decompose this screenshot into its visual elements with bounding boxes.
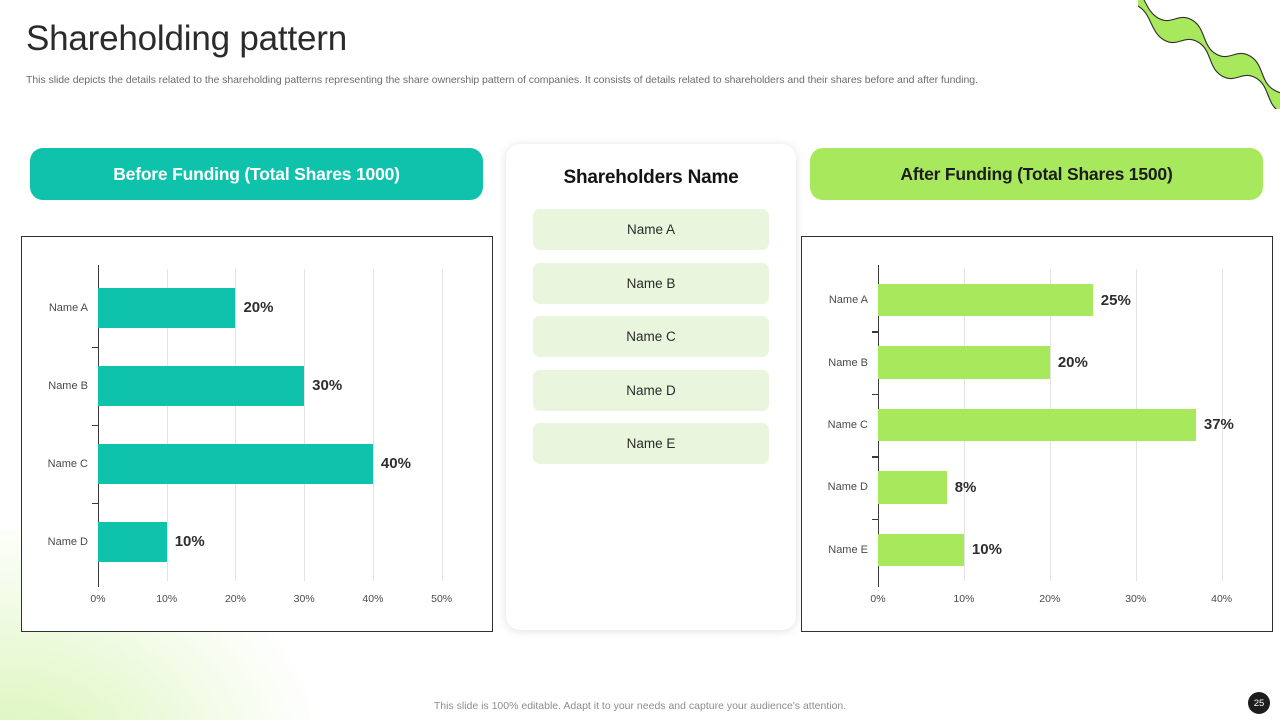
after-funding-chart-frame: 0%10%20%30%40%Name A25%Name B20%Name C37… xyxy=(801,236,1273,632)
wave-ribbon-decoration xyxy=(1138,0,1280,109)
x-axis-tick-label: 20% xyxy=(1039,593,1060,605)
shareholder-name-item[interactable]: Name A xyxy=(533,209,769,250)
y-axis-category-label: Name A xyxy=(829,294,868,306)
y-axis-tick xyxy=(872,394,878,395)
shareholder-name-list: Name AName BName CName DName E xyxy=(506,209,796,464)
before-funding-chart-frame: 0%10%20%30%40%50%Name A20%Name B30%Name … xyxy=(21,236,493,632)
x-axis-tick-label: 30% xyxy=(294,593,315,605)
chart-bar[interactable] xyxy=(878,346,1050,378)
page-subtitle: This slide depicts the details related t… xyxy=(26,73,1130,87)
chart-bar[interactable] xyxy=(878,409,1196,441)
y-axis-category-label: Name C xyxy=(828,419,868,431)
footer-note: This slide is 100% editable. Adapt it to… xyxy=(0,700,1280,712)
shareholders-panel-title: Shareholders Name xyxy=(506,144,796,189)
shareholders-name-panel: Shareholders Name Name AName BName CName… xyxy=(506,144,796,630)
bar-value-label: 37% xyxy=(1204,416,1234,433)
bar-value-label: 30% xyxy=(312,377,342,394)
bar-value-label: 20% xyxy=(1058,354,1088,371)
chart-bar-row: Name D10% xyxy=(98,522,476,563)
x-axis-tick-label: 0% xyxy=(870,593,885,605)
chart-bar-row: Name E10% xyxy=(878,534,1256,566)
content-board: Before Funding (Total Shares 1000) 0%10%… xyxy=(0,140,1280,640)
shareholder-name-item[interactable]: Name C xyxy=(533,316,769,357)
x-axis-tick-label: 20% xyxy=(225,593,246,605)
x-axis-tick-label: 40% xyxy=(362,593,383,605)
bar-value-label: 20% xyxy=(243,299,273,316)
chart-bar[interactable] xyxy=(98,522,167,563)
y-axis-category-label: Name A xyxy=(49,302,88,314)
chart-bar[interactable] xyxy=(878,471,947,503)
chart-bar[interactable] xyxy=(878,534,964,566)
page-number-badge: 25 xyxy=(1248,692,1270,714)
shareholder-name-item[interactable]: Name E xyxy=(533,423,769,464)
chart-bar[interactable] xyxy=(878,284,1093,316)
bar-value-label: 10% xyxy=(972,541,1002,558)
after-funding-plot: 0%10%20%30%40%Name A25%Name B20%Name C37… xyxy=(802,237,1272,631)
after-funding-column: After Funding (Total Shares 1500) 0%10%2… xyxy=(800,140,1273,200)
chart-bar-row: Name B20% xyxy=(878,346,1256,378)
y-axis-category-label: Name B xyxy=(48,380,88,392)
y-axis-tick xyxy=(92,503,98,504)
x-axis-tick-label: 40% xyxy=(1211,593,1232,605)
bar-value-label: 8% xyxy=(955,479,977,496)
bar-value-label: 25% xyxy=(1101,292,1131,309)
x-axis-tick-label: 50% xyxy=(431,593,452,605)
y-axis-category-label: Name D xyxy=(828,481,868,493)
chart-bar-row: Name A25% xyxy=(878,284,1256,316)
x-axis-tick-label: 30% xyxy=(1125,593,1146,605)
y-axis-tick xyxy=(872,331,878,332)
y-axis-tick xyxy=(92,347,98,348)
before-funding-column: Before Funding (Total Shares 1000) 0%10%… xyxy=(20,140,493,200)
x-axis-tick-label: 10% xyxy=(953,593,974,605)
bar-value-label: 40% xyxy=(381,455,411,472)
after-funding-banner: After Funding (Total Shares 1500) xyxy=(810,148,1263,200)
page-title: Shareholding pattern xyxy=(26,18,1130,61)
chart-bar-row: Name D8% xyxy=(878,471,1256,503)
before-funding-plot: 0%10%20%30%40%50%Name A20%Name B30%Name … xyxy=(22,237,492,631)
y-axis-category-label: Name E xyxy=(828,544,868,556)
chart-bar-row: Name A20% xyxy=(98,288,476,329)
slide-header: Shareholding pattern This slide depicts … xyxy=(26,18,1130,87)
shareholder-name-item[interactable]: Name D xyxy=(533,370,769,411)
y-axis-category-label: Name D xyxy=(48,536,88,548)
y-axis-tick xyxy=(872,456,878,457)
bar-value-label: 10% xyxy=(175,533,205,550)
chart-bar-row: Name B30% xyxy=(98,366,476,407)
x-axis-tick-label: 0% xyxy=(90,593,105,605)
chart-bar[interactable] xyxy=(98,288,235,329)
chart-bar-row: Name C40% xyxy=(98,444,476,485)
y-axis-tick xyxy=(872,519,878,520)
x-axis-tick-label: 10% xyxy=(156,593,177,605)
chart-bar[interactable] xyxy=(98,366,304,407)
chart-bar[interactable] xyxy=(98,444,373,485)
y-axis-tick xyxy=(92,425,98,426)
y-axis-category-label: Name C xyxy=(48,458,88,470)
shareholder-name-item[interactable]: Name B xyxy=(533,263,769,304)
chart-bar-row: Name C37% xyxy=(878,409,1256,441)
before-funding-banner: Before Funding (Total Shares 1000) xyxy=(30,148,483,200)
y-axis-category-label: Name B xyxy=(828,357,868,369)
